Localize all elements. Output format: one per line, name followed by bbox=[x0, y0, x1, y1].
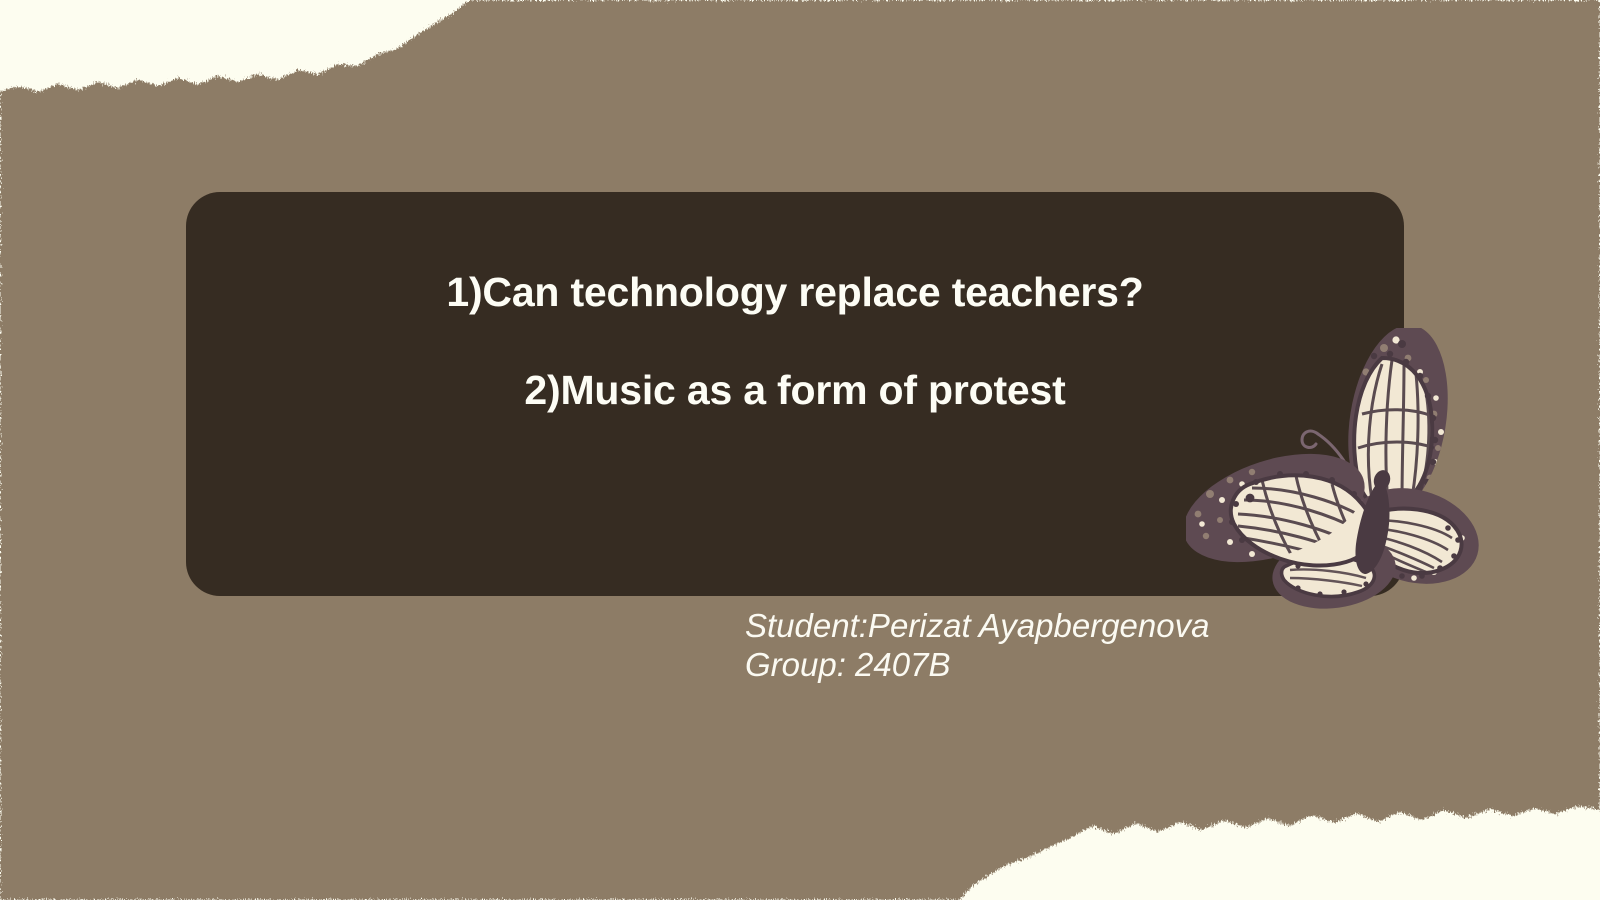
presentation-slide: 1)Can technology replace teachers? 2)Mus… bbox=[0, 0, 1600, 900]
student-credit: Student:Perizat Ayapbergenova Group: 240… bbox=[745, 606, 1209, 684]
group-line: Group: 2407B bbox=[745, 645, 1209, 684]
student-name-line: Student:Perizat Ayapbergenova bbox=[745, 606, 1209, 645]
butterfly-icon bbox=[1186, 328, 1482, 616]
